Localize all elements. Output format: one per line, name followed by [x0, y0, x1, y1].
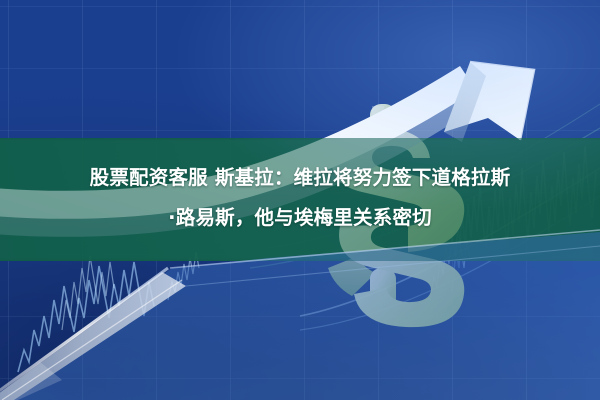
- headline-line-1: 股票配资客服 斯基拉：维拉将努力签下道格拉斯: [0, 158, 600, 198]
- promo-banner: 股票配资客服 斯基拉：维拉将努力签下道格拉斯 ·路易斯，他与埃梅里关系密切: [0, 0, 600, 400]
- banner-headline: 股票配资客服 斯基拉：维拉将努力签下道格拉斯 ·路易斯，他与埃梅里关系密切: [0, 158, 600, 238]
- headline-line-2: ·路易斯，他与埃梅里关系密切: [0, 198, 600, 238]
